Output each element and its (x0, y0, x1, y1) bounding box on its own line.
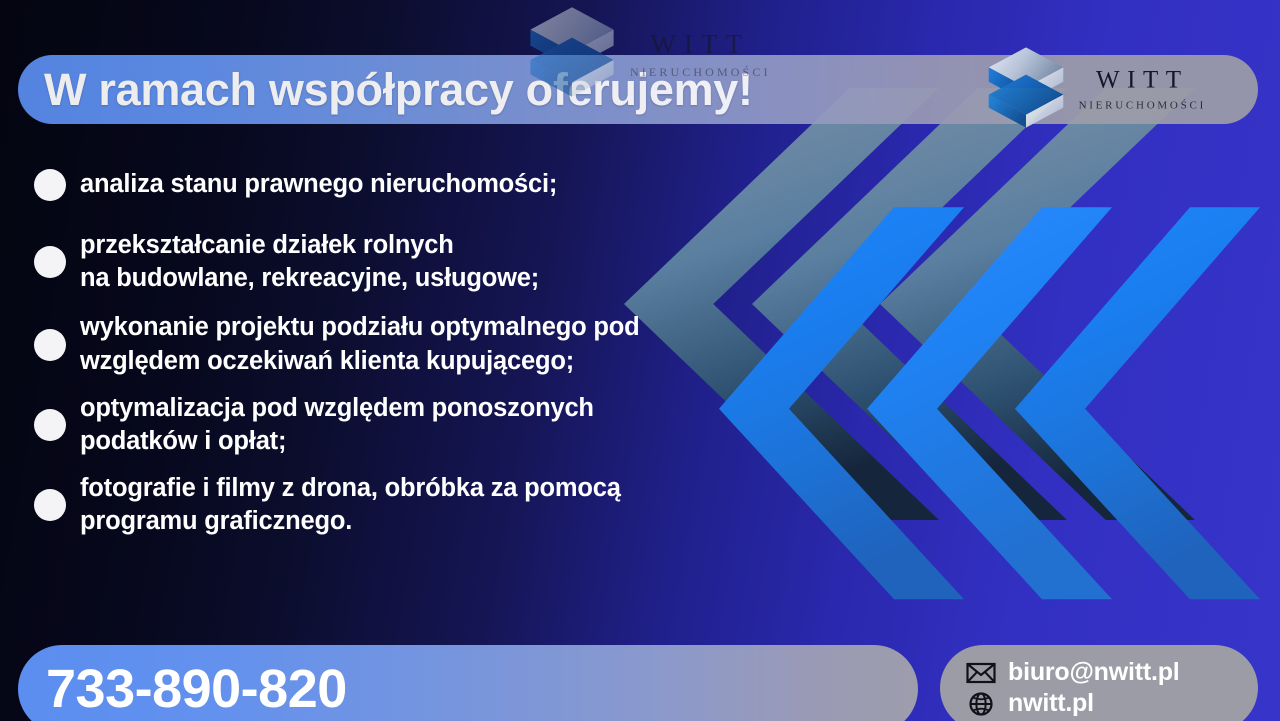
witt-isometric-blocks-icon (983, 42, 1069, 137)
list-item-line1: fotografie i filmy z drona, obróbka za p… (80, 472, 621, 505)
list-item: analiza stanu prawnego nieruchomości; (34, 168, 804, 201)
list-item-text: wykonanie projektu podziału optymalnego … (80, 311, 640, 377)
phone-banner[interactable]: 733-890-820 (18, 645, 918, 721)
brand-name: WITT (1096, 68, 1188, 93)
list-item-text: optymalizacja pod względem ponoszonych p… (80, 392, 594, 458)
list-item-line1: wykonanie projektu podziału optymalnego … (80, 311, 640, 344)
brand-tagline: NIERUCHOMOŚCI (1079, 101, 1206, 112)
bullet-dot-icon (34, 169, 66, 201)
phone-number[interactable]: 733-890-820 (46, 658, 347, 720)
bullet-dot-icon (34, 489, 66, 521)
bullet-dot-icon (34, 246, 66, 278)
list-item-line2: na budowlane, rekreacyjne, usługowe; (80, 262, 539, 295)
list-item-text: przekształcanie działek rolnych na budow… (80, 229, 539, 295)
website-row[interactable]: nwitt.pl (966, 689, 1258, 718)
list-item-line2: względem oczekiwań klienta kupującego; (80, 345, 640, 378)
bullet-dot-icon (34, 409, 66, 441)
watermark-brand-name: WITT (650, 31, 750, 58)
list-item-line2: programu graficznego. (80, 505, 621, 538)
email-address[interactable]: biuro@nwitt.pl (1008, 658, 1180, 687)
list-item-text: fotografie i filmy z drona, obróbka za p… (80, 472, 621, 538)
list-item-line1: optymalizacja pod względem ponoszonych (80, 392, 594, 425)
offer-list: analiza stanu prawnego nieruchomości; pr… (34, 168, 804, 538)
promo-poster: WITT NIERUCHOMOŚCI W ramach współpracy o… (0, 0, 1280, 721)
email-row[interactable]: biuro@nwitt.pl (966, 658, 1258, 687)
list-item-line1: przekształcanie działek rolnych (80, 229, 539, 262)
list-item: przekształcanie działek rolnych na budow… (34, 229, 804, 295)
brand-logo: WITT NIERUCHOMOŚCI (983, 42, 1206, 137)
globe-icon (966, 691, 996, 717)
list-item-text: analiza stanu prawnego nieruchomości; (80, 168, 557, 201)
watermark-logo: WITT NIERUCHOMOŚCI (524, 2, 771, 107)
watermark-brand-tagline: NIERUCHOMOŚCI (630, 66, 771, 78)
list-item-line2: podatków i opłat; (80, 425, 594, 458)
list-item: wykonanie projektu podziału optymalnego … (34, 311, 804, 377)
bullet-dot-icon (34, 329, 66, 361)
envelope-icon (966, 660, 996, 686)
witt-isometric-blocks-icon (524, 2, 620, 107)
list-item: fotografie i filmy z drona, obróbka za p… (34, 472, 804, 538)
website-url[interactable]: nwitt.pl (1008, 689, 1094, 718)
contact-pill: biuro@nwitt.pl nwitt.pl (940, 645, 1258, 721)
list-item-line1: analiza stanu prawnego nieruchomości; (80, 170, 557, 198)
list-item: optymalizacja pod względem ponoszonych p… (34, 392, 804, 458)
